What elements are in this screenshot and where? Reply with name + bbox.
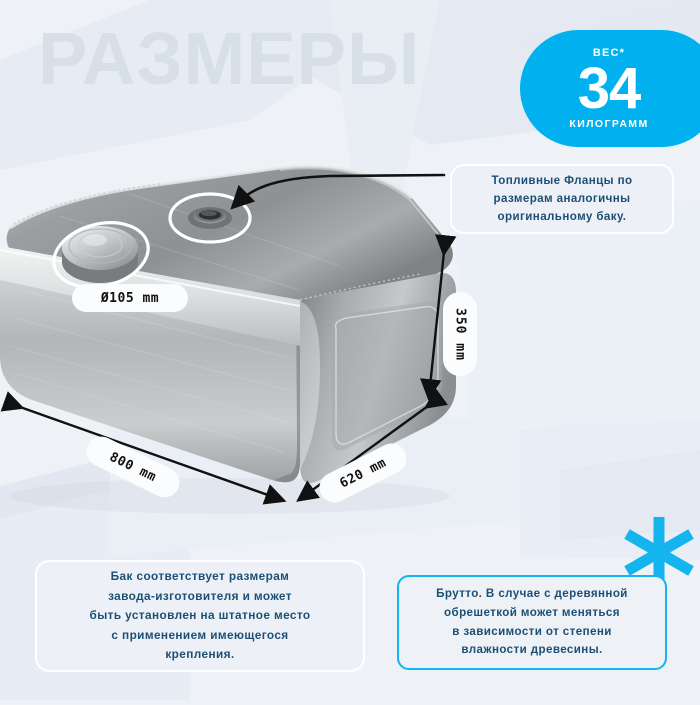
fuel-flange — [188, 207, 232, 229]
weight-badge-unit: КИЛОГРАММ — [569, 119, 648, 130]
callout-note-left-line4: с применением имеющегося — [90, 626, 311, 645]
callout-note-left: Бак соответствует размерам завода-изгото… — [35, 560, 365, 672]
weight-badge-value: 34 — [578, 61, 641, 118]
callout-flange-line2: размерам аналогичны — [492, 190, 633, 208]
callout-note-right-line2: обрешеткой может меняться — [436, 604, 628, 623]
callout-note-left-line5: крепления. — [90, 645, 311, 664]
callout-flange-line3: оригинальному баку. — [492, 208, 633, 226]
callout-flange: Топливные Фланцы по размерам аналогичны … — [450, 164, 674, 234]
callout-note-right-line4: влажности древесины. — [436, 641, 628, 660]
dimension-label-height: 350 mm — [443, 292, 477, 376]
callout-note-left-line2: завода-изготовителя и может — [90, 587, 311, 606]
dimension-label-diameter: Ø105 mm — [72, 284, 188, 312]
callout-note-right-line3: в зависимости от степени — [436, 623, 628, 642]
page-title: РАЗМЕРЫ — [38, 22, 420, 96]
tank-end-panel — [332, 302, 442, 451]
callout-note-right-line1: Брутто. В случае с деревянной — [436, 585, 628, 604]
callout-note-left-line3: быть установлен на штатное место — [90, 606, 311, 625]
callout-note-right: Брутто. В случае с деревянной обрешеткой… — [397, 575, 667, 670]
weight-badge: ВЕС* 34 КИЛОГРАММ — [520, 30, 700, 147]
tank-shadow — [10, 478, 450, 514]
fuel-tank-svg — [0, 150, 520, 530]
fuel-tank-illustration — [0, 150, 520, 530]
callout-note-left-line1: Бак соответствует размерам — [90, 567, 311, 586]
callout-flange-line1: Топливные Фланцы по — [492, 172, 633, 190]
